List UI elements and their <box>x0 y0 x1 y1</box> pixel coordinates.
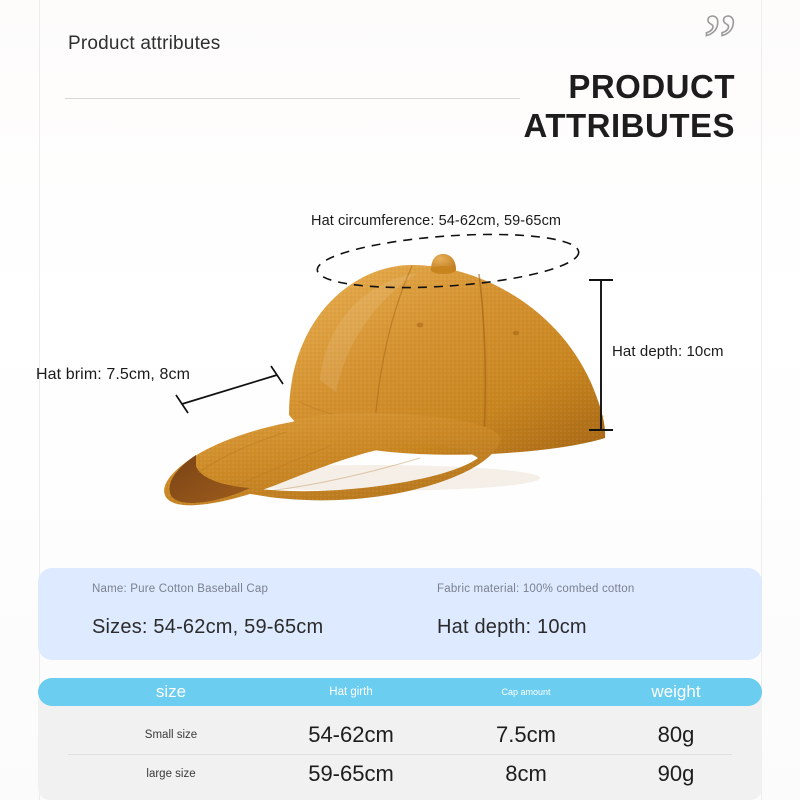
row-amount: 8cm <box>446 755 606 793</box>
info-sizes: Sizes: 54-62cm, 59-65cm <box>92 616 323 639</box>
column-header-weight: weight <box>606 678 746 706</box>
row-girth: 59-65cm <box>256 755 446 793</box>
table-row: Small size 54-62cm 7.5cm 80g <box>38 716 762 754</box>
row-label: Small size <box>96 716 246 754</box>
row-label: large size <box>96 755 246 793</box>
info-panel: Name: Pure Cotton Baseball Cap Fabric ma… <box>38 568 762 660</box>
info-depth: Hat depth: 10cm <box>437 616 587 639</box>
row-girth: 54-62cm <box>256 716 446 754</box>
column-header-girth: Hat girth <box>256 678 446 706</box>
page-title: PRODUCT ATTRIBUTES <box>523 68 735 146</box>
product-attributes-page: Product attributes ” PRODUCT ATTRIBUTES <box>0 0 800 800</box>
depth-label: Hat depth: 10cm <box>612 343 724 360</box>
row-amount: 7.5cm <box>446 716 606 754</box>
cap-eyelet-right <box>513 331 519 336</box>
page-title-line1: PRODUCT <box>523 68 735 107</box>
page-title-line2: ATTRIBUTES <box>523 107 735 146</box>
page-subtitle: Product attributes <box>68 33 221 55</box>
row-weight: 90g <box>606 755 746 793</box>
column-header-amount: Cap amount <box>446 678 606 706</box>
row-separator <box>68 754 732 755</box>
hat-diagram: Hat circumference: 54-62cm, 59-65cm Hat … <box>0 170 800 550</box>
info-fabric: Fabric material: 100% combed cotton <box>437 583 634 595</box>
spec-table-header: size Hat girth Cap amount weight <box>38 678 762 706</box>
header-divider <box>65 98 520 99</box>
row-weight: 80g <box>606 716 746 754</box>
cap-eyelet-left <box>417 323 424 328</box>
brim-label: Hat brim: 7.5cm, 8cm <box>36 366 190 384</box>
circumference-label: Hat circumference: 54-62cm, 59-65cm <box>311 213 561 229</box>
column-header-size: size <box>96 678 246 706</box>
table-row: large size 59-65cm 8cm 90g <box>38 755 762 793</box>
brim-dimension-line <box>176 366 283 413</box>
info-name: Name: Pure Cotton Baseball Cap <box>92 583 268 595</box>
